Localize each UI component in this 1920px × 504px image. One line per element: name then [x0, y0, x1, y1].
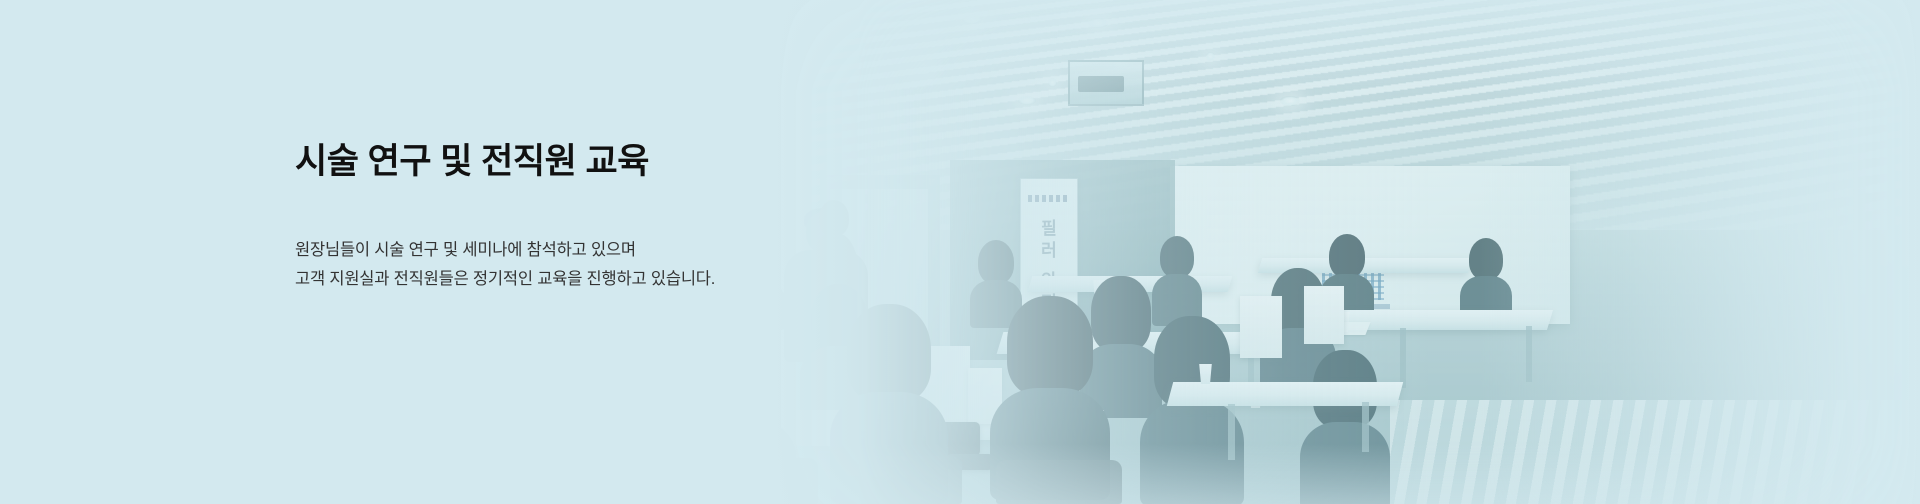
banner-description: 원장님들이 시술 연구 및 세미나에 참석하고 있으며 고객 지원실과 전직원들… — [295, 236, 915, 294]
banner-copy: 시술 연구 및 전직원 교육 원장님들이 시술 연구 및 세미나에 참석하고 있… — [295, 140, 915, 294]
page-title: 시술 연구 및 전직원 교육 — [295, 140, 915, 184]
description-line: 원장님들이 시술 연구 및 세미나에 참석하고 있으며 — [295, 236, 915, 265]
photo-right-fade — [1480, 0, 1920, 504]
description-line: 고객 지원실과 전직원들은 정기적인 교육을 진행하고 있습니다. — [295, 265, 915, 294]
hero-banner: 필 러 안 전 상 담 — [0, 0, 1920, 504]
background-photo: 필 러 안 전 상 담 — [0, 0, 1920, 504]
